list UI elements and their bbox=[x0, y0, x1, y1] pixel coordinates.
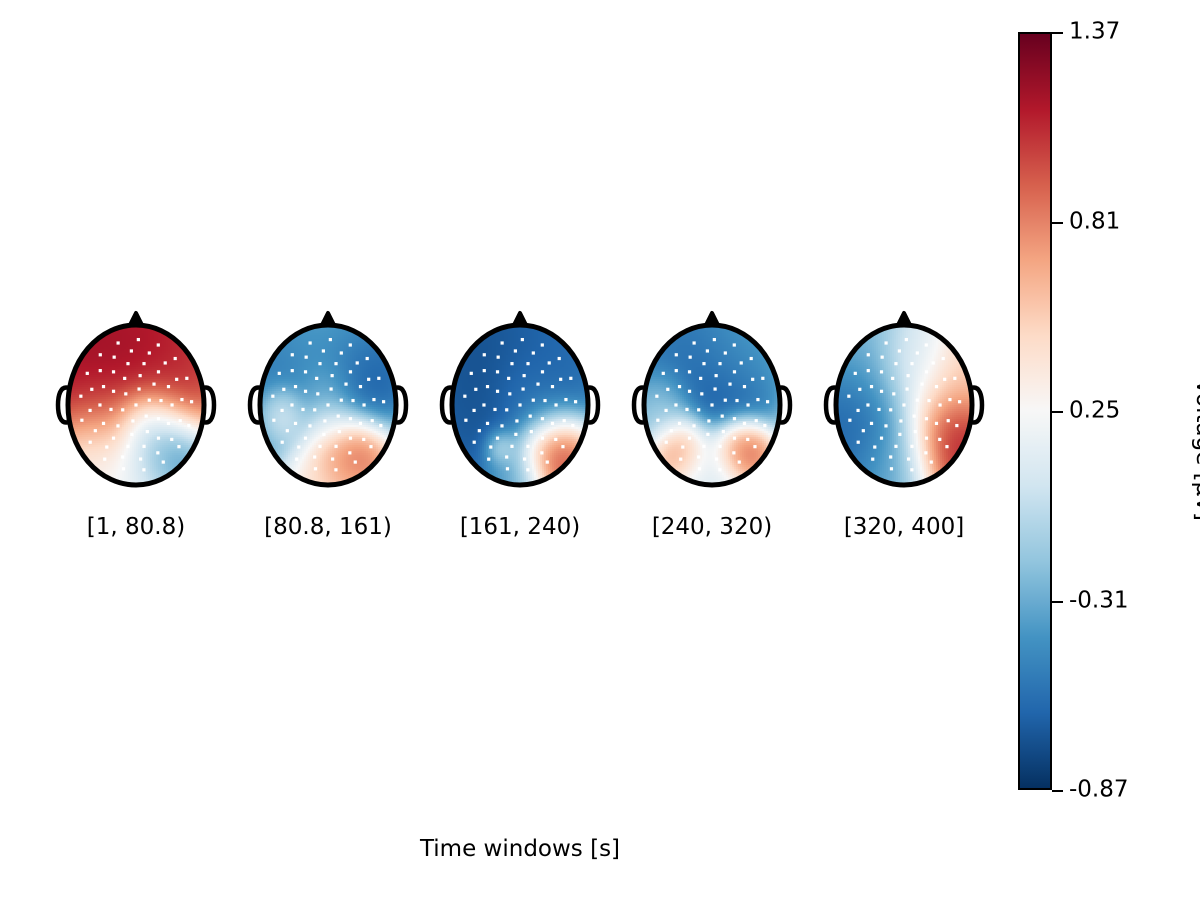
colorbar-tick-mark-3 bbox=[1052, 601, 1063, 603]
colorbar-tick-label-2: 0.25 bbox=[1069, 400, 1120, 423]
head-diagram-1 bbox=[248, 305, 408, 501]
head-diagram-2 bbox=[440, 305, 600, 501]
eeg-topomap-figure: [1, 80.8) [80.8, 161) [161, 240) [240, 3… bbox=[0, 0, 1200, 900]
x-tick-label-1: [80.8, 161) bbox=[232, 512, 424, 546]
topomap-row bbox=[40, 305, 1000, 505]
head-svg-4 bbox=[824, 305, 984, 501]
x-tick-label-3: [240, 320) bbox=[616, 512, 808, 546]
head-svg-0 bbox=[56, 305, 216, 501]
topomap-panel-3[interactable] bbox=[616, 305, 808, 505]
topomap-panel-1[interactable] bbox=[232, 305, 424, 505]
colorbar[interactable]: 1.370.810.25-0.31-0.87 bbox=[1018, 32, 1052, 790]
colorbar-tick-label-1: 0.81 bbox=[1069, 210, 1120, 233]
head-svg-2 bbox=[440, 305, 600, 501]
topomap-panel-2[interactable] bbox=[424, 305, 616, 505]
x-tick-label-4: [320, 400] bbox=[808, 512, 1000, 546]
x-axis-title: Time windows [s] bbox=[0, 836, 1040, 862]
x-tick-label-0: [1, 80.8) bbox=[40, 512, 232, 546]
head-svg-1 bbox=[248, 305, 408, 501]
colorbar-gradient bbox=[1018, 32, 1052, 790]
colorbar-title: Voltage [µV] bbox=[1191, 379, 1200, 521]
colorbar-tick-label-0: 1.37 bbox=[1069, 21, 1120, 44]
topomap-panel-0[interactable] bbox=[40, 305, 232, 505]
colorbar-tick-mark-1 bbox=[1052, 222, 1063, 224]
x-tick-labels: [1, 80.8) [80.8, 161) [161, 240) [240, 3… bbox=[40, 512, 1000, 546]
colorbar-tick-mark-2 bbox=[1052, 411, 1063, 413]
x-tick-label-2: [161, 240) bbox=[424, 512, 616, 546]
colorbar-tick-label-4: -0.87 bbox=[1069, 779, 1129, 802]
head-diagram-0 bbox=[56, 305, 216, 501]
colorbar-tick-label-3: -0.31 bbox=[1069, 589, 1129, 612]
topomap-panel-4[interactable] bbox=[808, 305, 1000, 505]
colorbar-tick-mark-4 bbox=[1052, 790, 1063, 792]
head-diagram-4 bbox=[824, 305, 984, 501]
head-diagram-3 bbox=[632, 305, 792, 501]
colorbar-tick-mark-0 bbox=[1052, 32, 1063, 34]
head-svg-3 bbox=[632, 305, 792, 501]
